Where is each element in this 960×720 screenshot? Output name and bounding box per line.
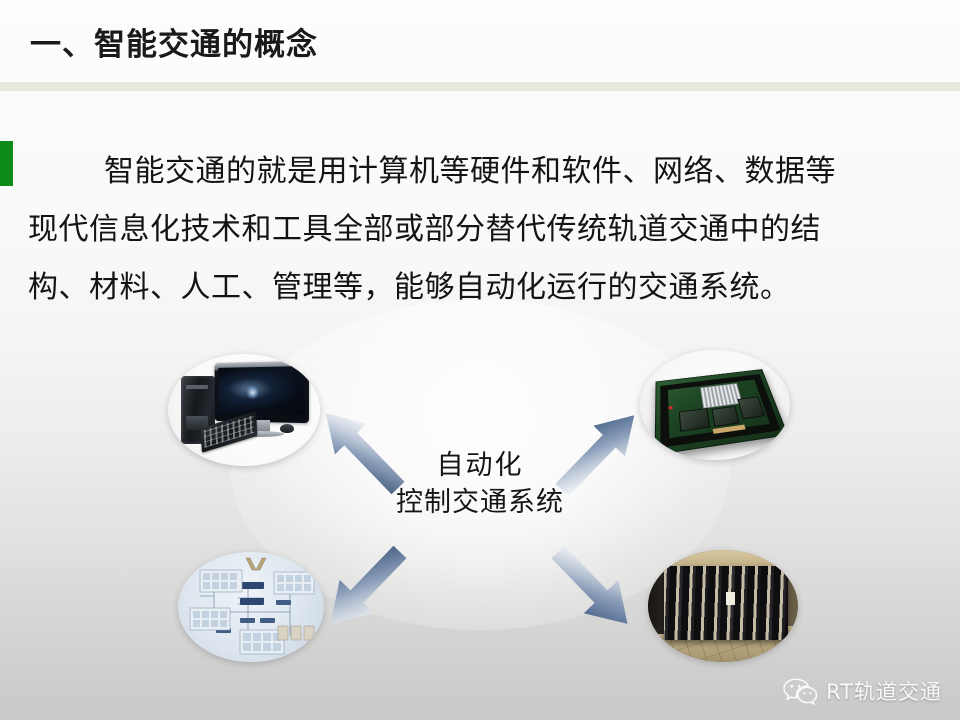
pcb-chip-2: [711, 406, 739, 427]
caption-line-1: 自动化: [330, 448, 630, 484]
page-title: 一、智能交通的概念: [30, 19, 318, 64]
body-line-1-text: 智能交通的就是用计算机等硬件和软件、网络、数据等: [104, 154, 836, 189]
computer-monitor-icon: [215, 361, 309, 423]
mouse-icon: [280, 424, 294, 433]
pcb-heatsink: [700, 383, 742, 408]
diagram-center-caption: 自动化 控制交通系统: [330, 448, 630, 521]
watermark-text: RT轨道交通: [826, 676, 942, 706]
watermark: RT轨道交通: [783, 676, 942, 706]
circuit-board-icon: [655, 369, 789, 455]
node-server-racks: [648, 550, 798, 662]
node-desktop-computer: [168, 354, 320, 466]
green-accent-marker: [0, 141, 13, 186]
arrow-group: [0, 330, 960, 720]
pcb-chip-1: [679, 408, 710, 432]
server-rack-icon: [664, 566, 788, 640]
network-diagram-icon: [178, 552, 324, 662]
body-paragraph: 智能交通的就是用计算机等硬件和软件、网络、数据等 现代信息化技术和工具全部或部分…: [28, 143, 938, 317]
concept-diagram: 自动化 控制交通系统: [0, 330, 960, 720]
node-network-topology: [178, 552, 324, 662]
pcb-edge-bottom: [660, 423, 778, 448]
wechat-icon: [783, 678, 817, 705]
title-divider: [0, 82, 960, 91]
caption-line-2: 控制交通系统: [330, 484, 630, 521]
body-line-2: 现代信息化技术和工具全部或部分替代传统轨道交通中的结: [28, 201, 938, 259]
pcb-led: [668, 406, 672, 410]
arrow-to-servers: [541, 535, 645, 640]
arrow-to-network: [313, 535, 417, 640]
monitor-screen: [218, 366, 304, 415]
slide-header: 一、智能交通的概念: [0, 0, 960, 92]
body-line-3: 构、材料、人工、管理等，能够自动化运行的交通系统。: [28, 259, 938, 317]
slide-canvas: 一、智能交通的概念 智能交通的就是用计算机等硬件和软件、网络、数据等 现代信息化…: [0, 0, 960, 720]
node-circuit-board: [640, 350, 790, 460]
body-line-1: 智能交通的就是用计算机等硬件和软件、网络、数据等: [28, 143, 938, 201]
